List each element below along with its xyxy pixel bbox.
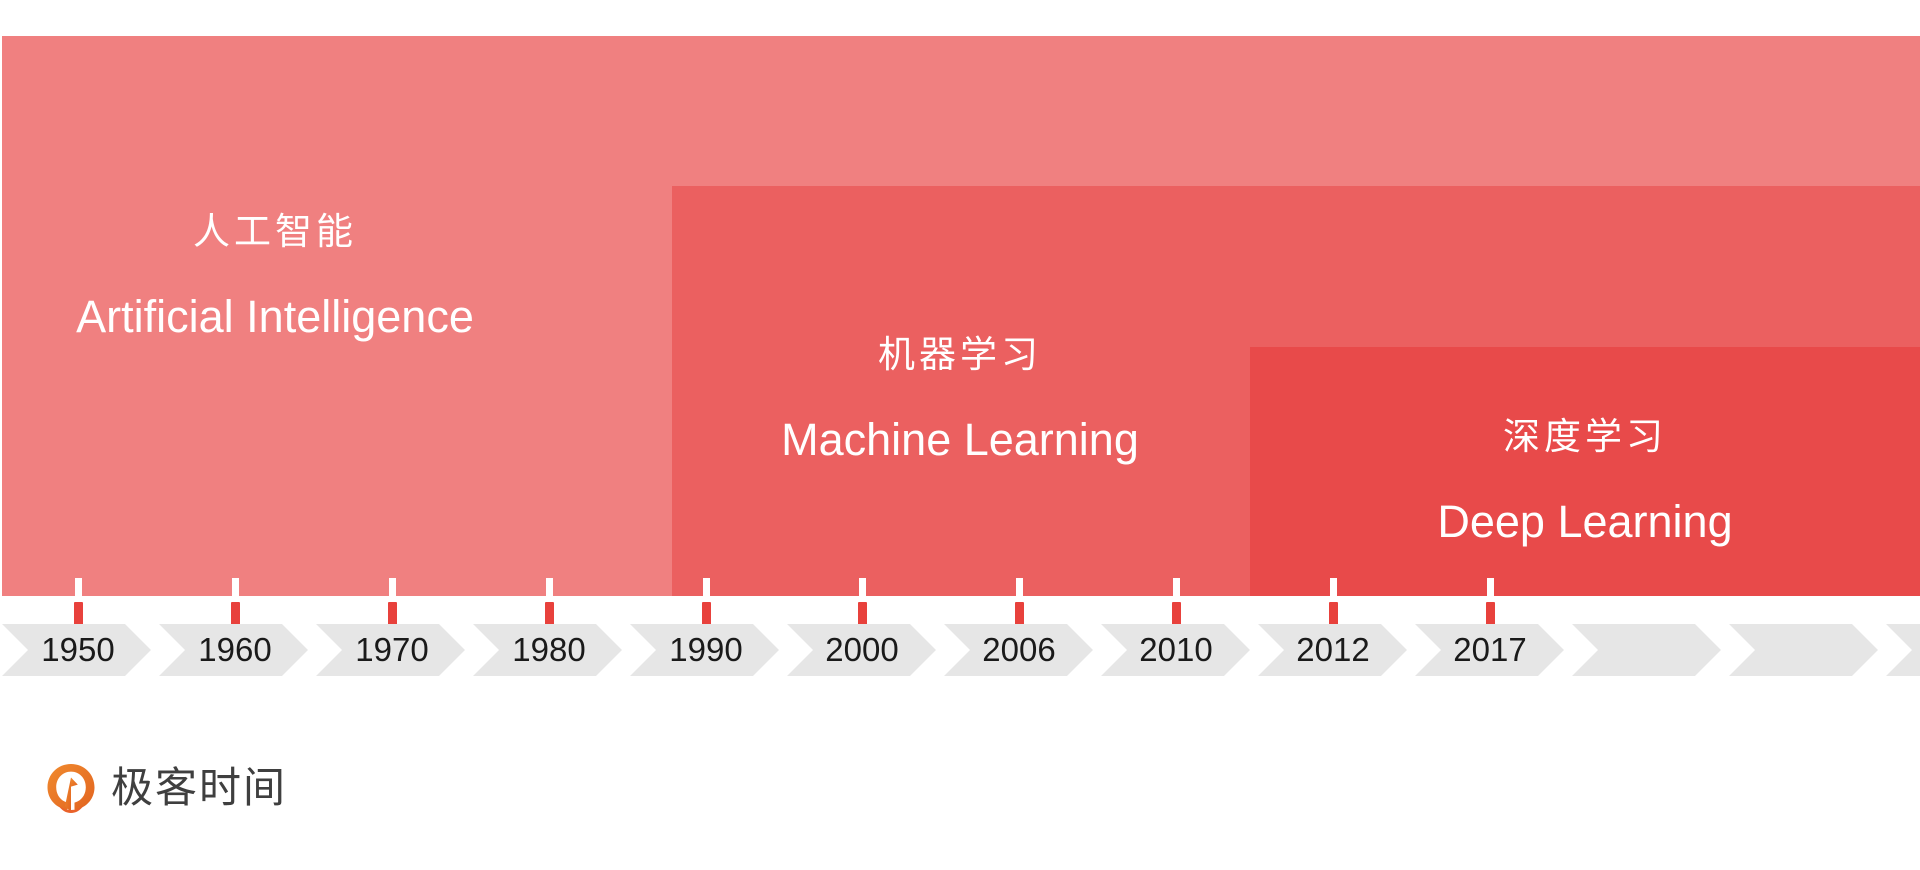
brand-logo: 极客时间 <box>45 762 287 814</box>
tick-notch <box>1487 578 1494 600</box>
timeline-tick-label-1980[interactable]: 1980 <box>469 624 629 676</box>
geektime-q-logo-icon <box>45 762 97 814</box>
tick-notch <box>546 578 553 600</box>
timeline-tick-label-2006[interactable]: 2006 <box>939 624 1099 676</box>
tick-notch <box>75 578 82 600</box>
tick-notch <box>1330 578 1337 600</box>
timeline-tick-label-2000[interactable]: 2000 <box>782 624 942 676</box>
tick-notch <box>703 578 710 600</box>
timeline-tick-label-1950[interactable]: 1950 <box>0 624 158 676</box>
timeline-tick-label-2012[interactable]: 2012 <box>1253 624 1413 676</box>
timeline-bands-stage: 人工智能Artificial Intelligence机器学习Machine L… <box>0 0 1920 600</box>
tick-notch <box>859 578 866 600</box>
tick-notch <box>232 578 239 600</box>
band-deep-learning <box>1250 347 1920 596</box>
tick-notch <box>389 578 396 600</box>
brand-wordmark: 极客时间 <box>111 767 287 809</box>
timeline-tick-label-2010[interactable]: 2010 <box>1096 624 1256 676</box>
timeline-tick-label-1990[interactable]: 1990 <box>626 624 786 676</box>
timeline-tick-label-1960[interactable]: 1960 <box>155 624 315 676</box>
timeline-chevron <box>1729 624 1878 676</box>
tick-notch <box>1016 578 1023 600</box>
tick-notch <box>1173 578 1180 600</box>
timeline-chevron <box>1572 624 1721 676</box>
timeline-tick-label-1970[interactable]: 1970 <box>312 624 472 676</box>
timeline-axis-strip: 1950196019701980199020002006201020122017 <box>0 624 1920 676</box>
timeline-chevron <box>1886 624 1920 676</box>
timeline-tick-label-2017[interactable]: 2017 <box>1410 624 1570 676</box>
